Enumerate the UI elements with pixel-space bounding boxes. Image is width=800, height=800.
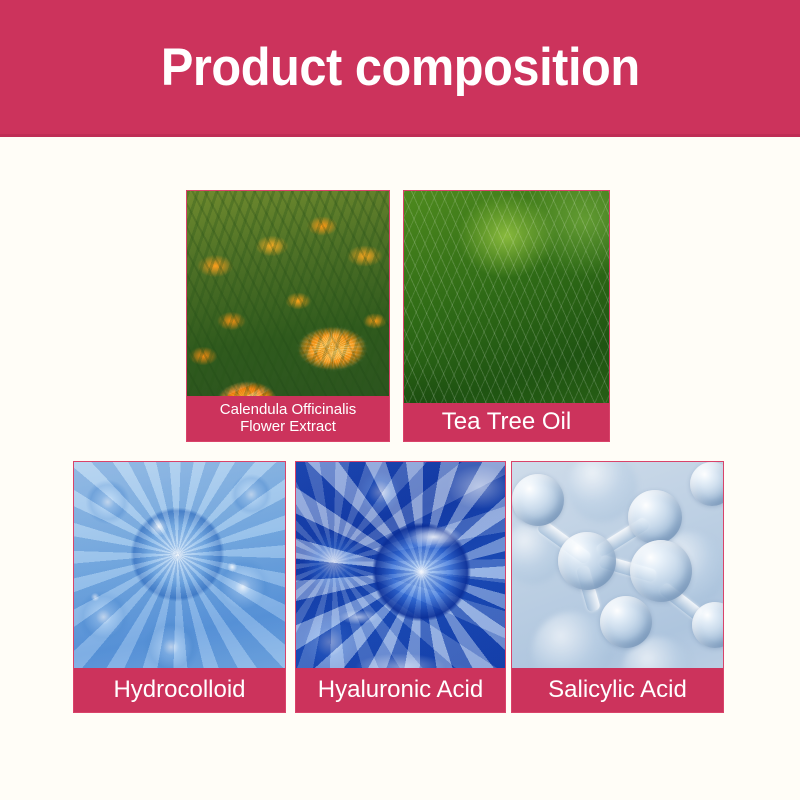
ingredient-label-salicylic-acid-line1: Salicylic Acid (548, 677, 687, 704)
ingredient-label-hydrocolloid: Hydrocolloid (74, 668, 285, 712)
background-atom (567, 462, 637, 522)
ingredient-card-salicylic-acid[interactable]: Salicylic Acid (511, 461, 724, 713)
ingredient-card-hyaluronic-acid[interactable]: Hyaluronic Acid (295, 461, 506, 713)
ingredient-label-salicylic-acid: Salicylic Acid (512, 668, 723, 712)
ingredient-card-calendula[interactable]: Calendula Officinalis Flower Extract (186, 190, 390, 442)
ingredient-label-hyaluronic-acid-line1: Hyaluronic Acid (318, 677, 483, 704)
ingredient-label-tea-tree: Tea Tree Oil (404, 403, 609, 441)
ingredient-card-hydrocolloid[interactable]: Hydrocolloid (73, 461, 286, 713)
ingredient-label-hydrocolloid-line1: Hydrocolloid (113, 677, 245, 704)
ingredient-label-calendula-line2: Flower Extract (220, 419, 356, 436)
header-banner: Product composition (0, 0, 800, 137)
molecule-atom (558, 532, 616, 590)
ingredient-label-hyaluronic-acid: Hyaluronic Acid (296, 668, 505, 712)
molecule-atom (630, 540, 692, 602)
ingredient-card-tea-tree[interactable]: Tea Tree Oil (403, 190, 610, 442)
molecule-atom (628, 490, 682, 544)
molecule-atom (512, 474, 564, 526)
ingredient-label-calendula: Calendula Officinalis Flower Extract (187, 396, 389, 441)
ingredient-label-calendula-line1: Calendula Officinalis (220, 402, 356, 419)
ingredient-label-tea-tree-line1: Tea Tree Oil (442, 409, 571, 436)
page-title: Product composition (161, 41, 640, 94)
molecule-atom (600, 596, 652, 648)
molecule-atom (690, 462, 723, 506)
